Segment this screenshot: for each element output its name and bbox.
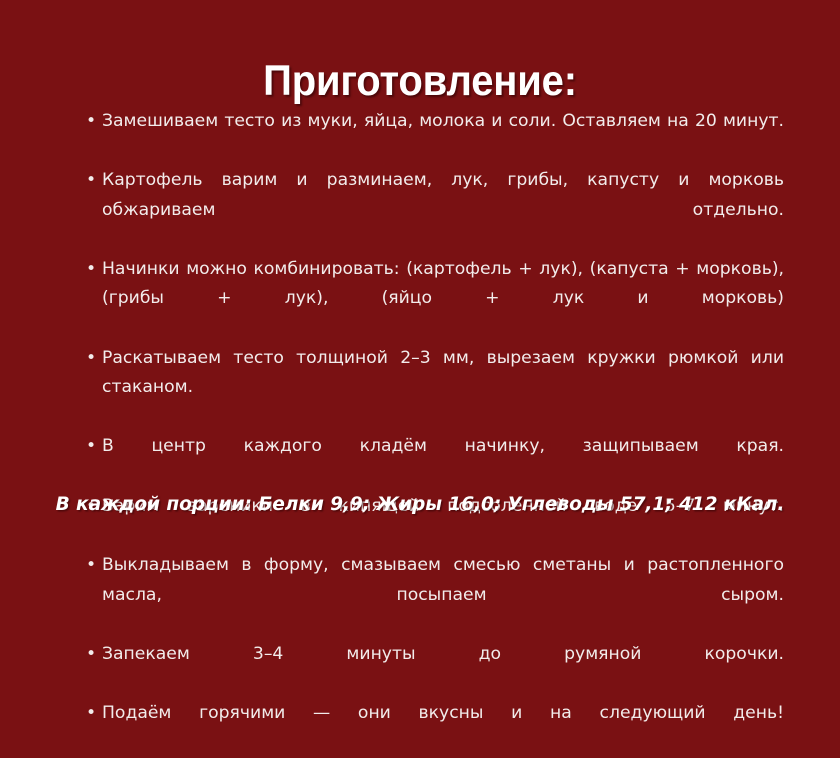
list-item: • Замешиваем тесто из муки, яйца, молока… (84, 107, 784, 166)
bullet-icon: • (86, 640, 98, 669)
list-item: • Запекаем 3–4 минуты до румяной корочки… (84, 640, 784, 699)
bullet-icon: • (86, 255, 98, 284)
bullet-icon: • (86, 344, 98, 373)
step-text: Выкладываем в форму, смазываем смесью см… (102, 555, 784, 604)
step-text: Раскатываем тесто толщиной 2–3 мм, вырез… (102, 348, 784, 397)
list-item: • Картофель варим и разминаем, лук, гриб… (84, 166, 784, 254)
list-item: • В центр каждого кладём начинку, защипы… (84, 432, 784, 491)
bullet-icon: • (86, 551, 98, 580)
preparation-steps-list: • Замешиваем тесто из муки, яйца, молока… (84, 107, 784, 758)
step-text: Начинки можно комбинировать: (картофель … (102, 259, 784, 308)
bullet-icon: • (86, 107, 98, 136)
step-text: Замешиваем тесто из муки, яйца, молока и… (102, 111, 784, 131)
bullet-icon: • (86, 699, 98, 728)
step-text: Запекаем 3–4 минуты до румяной корочки. (102, 644, 784, 664)
list-item: • Раскатываем тесто толщиной 2–3 мм, выр… (84, 344, 784, 432)
bullet-icon: • (86, 432, 98, 461)
page-title: Приготовление: (29, 55, 810, 107)
nutrition-summary: В каждой порции: Белки 9,9; Жиры 16,0; У… (0, 492, 840, 518)
bullet-icon: • (86, 166, 98, 195)
list-item: • Выкладываем в форму, смазываем смесью … (84, 551, 784, 639)
list-item: • Подаём горячими — они вкусны и на след… (84, 699, 784, 758)
step-text: Картофель варим и разминаем, лук, грибы,… (102, 170, 784, 219)
recipe-slide: Приготовление: • Замешиваем тесто из мук… (0, 0, 840, 560)
step-text: Подаём горячими — они вкусны и на следую… (102, 703, 784, 723)
list-item: • Начинки можно комбинировать: (картофел… (84, 255, 784, 343)
step-text: В центр каждого кладём начинку, защипыва… (102, 436, 784, 456)
